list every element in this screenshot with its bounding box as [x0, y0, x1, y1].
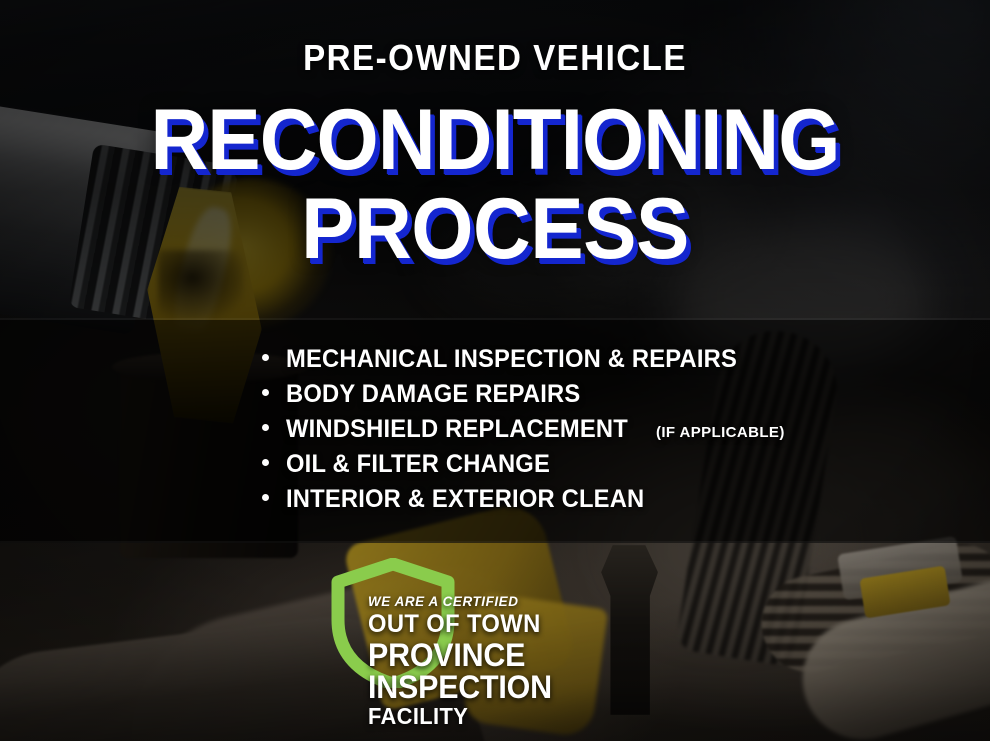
- list-item-label: WINDSHIELD REPLACEMENT: [286, 415, 628, 444]
- reconditioning-process-poster: PRE-OWNED VEHICLE RECONDITIONING PROCESS…: [0, 0, 990, 741]
- bullet-dot-icon: [262, 354, 269, 361]
- list-item-note: (IF APPLICABLE): [656, 424, 785, 441]
- reconditioning-steps-list: MECHANICAL INSPECTION & REPAIRS BODY DAM…: [262, 345, 922, 520]
- bullet-dot-icon: [262, 494, 269, 501]
- badge-text-block: WE ARE A CERTIFIED OUT OF TOWN PROVINCE …: [368, 594, 678, 728]
- poster-title-line-1: RECONDITIONING: [35, 97, 956, 183]
- badge-line-out-of-town: OUT OF TOWN: [368, 612, 663, 637]
- list-item: WINDSHIELD REPLACEMENT (IF APPLICABLE): [262, 415, 922, 443]
- list-item: INTERIOR & EXTERIOR CLEAN: [262, 485, 922, 513]
- list-item-label: BODY DAMAGE REPAIRS: [286, 380, 580, 409]
- list-item-label: OIL & FILTER CHANGE: [286, 450, 550, 479]
- badge-line-facility: FACILITY: [368, 705, 663, 728]
- badge-line-province-inspection: PROVINCE INSPECTION: [368, 639, 663, 703]
- list-item-label: MECHANICAL INSPECTION & REPAIRS: [286, 345, 737, 374]
- list-item-label: INTERIOR & EXTERIOR CLEAN: [286, 485, 644, 514]
- certification-badge: WE ARE A CERTIFIED OUT OF TOWN PROVINCE …: [328, 558, 678, 688]
- poster-title-line-2: PROCESS: [35, 186, 956, 272]
- list-item: BODY DAMAGE REPAIRS: [262, 380, 922, 408]
- badge-line-certified: WE ARE A CERTIFIED: [368, 594, 666, 608]
- list-item: OIL & FILTER CHANGE: [262, 450, 922, 478]
- list-item: MECHANICAL INSPECTION & REPAIRS: [262, 345, 922, 373]
- bullet-dot-icon: [262, 459, 269, 466]
- bullet-dot-icon: [262, 424, 269, 431]
- poster-content: PRE-OWNED VEHICLE RECONDITIONING PROCESS…: [0, 0, 990, 741]
- poster-eyebrow: PRE-OWNED VEHICLE: [40, 40, 951, 76]
- bullet-dot-icon: [262, 389, 269, 396]
